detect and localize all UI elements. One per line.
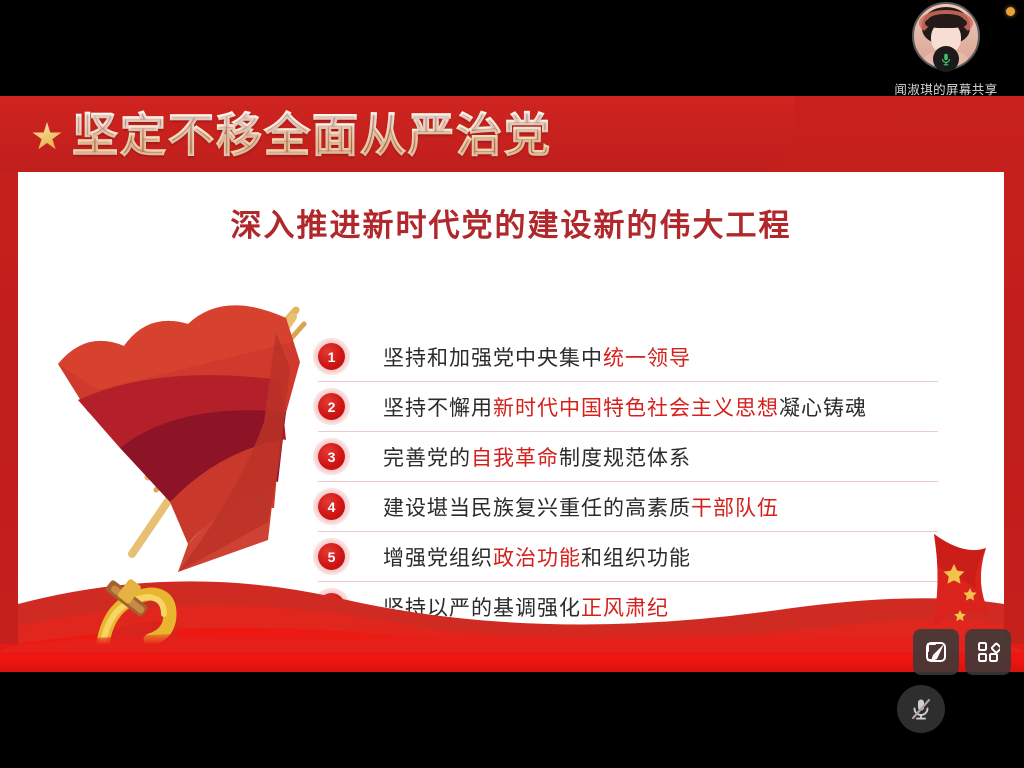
item-text-post: 制度规范体系: [559, 446, 691, 470]
list-item[interactable]: 2 坚持不懈用新时代中国特色社会主义思想凝心铸魂: [318, 382, 938, 432]
slide-footer-ribbon: [0, 644, 1024, 672]
item-text-pre: 完善党的: [383, 446, 471, 470]
item-text: 建设堪当民族复兴重任的高素质干部队伍: [383, 492, 779, 522]
item-number-badge: 4: [318, 493, 345, 520]
annotate-button[interactable]: [913, 629, 959, 675]
recording-indicator-icon: [1006, 7, 1015, 16]
banner-title: 坚定不移全面从严治党: [72, 106, 552, 164]
slide-subtitle: 深入推进新时代党的建设新的伟大工程: [18, 200, 1004, 245]
presenter-avatar-wrap[interactable]: [912, 2, 980, 70]
share-header: 闻淑琪的屏幕共享: [0, 0, 1024, 96]
item-text-pre: 坚持不懈用: [383, 396, 493, 420]
item-text-pre: 建设堪当民族复兴重任的高素质: [383, 496, 691, 520]
mic-mute-button[interactable]: [897, 685, 945, 733]
item-text-pre: 坚持和加强党中央集中: [383, 346, 603, 370]
item-text-highlight: 自我革命: [471, 446, 559, 470]
item-text-highlight: 新时代中国特色社会主义思想: [493, 396, 779, 420]
slide-content-card: 深入推进新时代党的建设新的伟大工程: [18, 172, 1004, 672]
item-text: 坚持和加强党中央集中统一领导: [383, 342, 691, 372]
item-number-badge: 2: [318, 393, 345, 420]
mic-active-badge-icon: [933, 46, 959, 72]
star-icon: [32, 122, 62, 152]
presentation-toolbar: [913, 629, 1011, 675]
share-label: 闻淑琪的屏幕共享: [872, 79, 1020, 98]
slide-stage: 坚定不移全面从严治党 深入推进新时代党的建设新的伟大工程: [0, 96, 1024, 672]
list-item[interactable]: 3 完善党的自我革命制度规范体系: [318, 432, 938, 482]
list-item[interactable]: 1 坚持和加强党中央集中统一领导: [318, 332, 938, 382]
item-text-post: 凝心铸魂: [779, 396, 867, 420]
item-text-highlight: 统一领导: [603, 346, 691, 370]
item-text-highlight: 干部队伍: [691, 496, 779, 520]
item-text: 完善党的自我革命制度规范体系: [383, 442, 691, 472]
slide-banner: 坚定不移全面从严治党: [0, 96, 795, 172]
apps-grid-button[interactable]: [965, 629, 1011, 675]
screen-share-window: 闻淑琪的屏幕共享 坚定不移全面从严治党 深入推进新时代党的建设新的伟大工程: [0, 0, 1024, 768]
item-number-badge: 1: [318, 343, 345, 370]
item-text: 坚持不懈用新时代中国特色社会主义思想凝心铸魂: [383, 392, 867, 422]
item-number-badge: 3: [318, 443, 345, 470]
